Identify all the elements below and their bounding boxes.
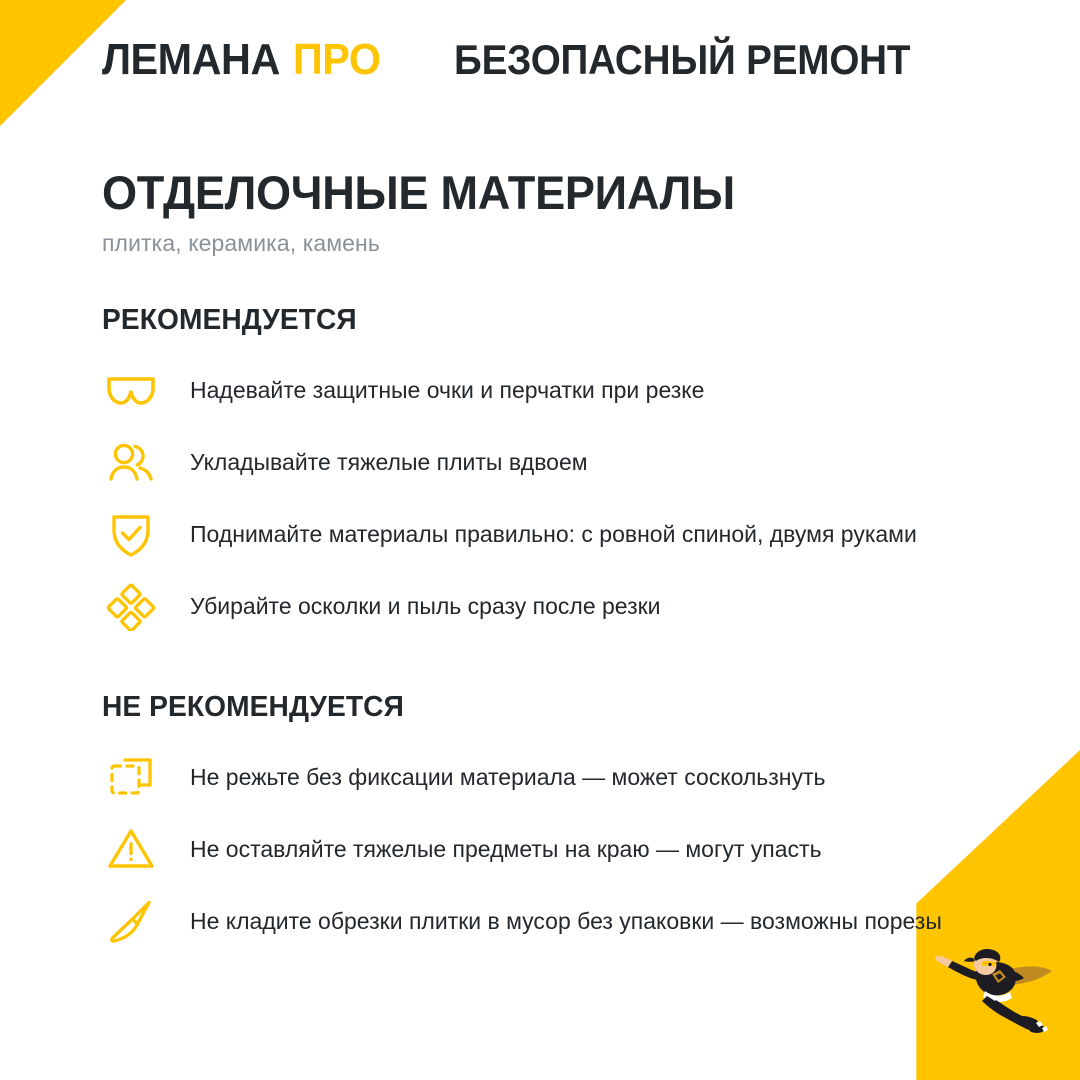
list-item-text: Не оставляйте тяжелые предметы на краю —… — [190, 826, 822, 866]
list-item: Надевайте защитные очки и перчатки при р… — [102, 367, 992, 413]
content-body: ОТДЕЛОЧНЫЕ МАТЕРИАЛЫ плитка, керамика, к… — [102, 168, 992, 944]
list-item-text: Не режьте без фиксации материала — может… — [190, 754, 826, 794]
section-heading-recommended: РЕКОМЕНДУЕТСЯ — [102, 304, 965, 337]
list-item-text: Не кладите обрезки плитки в мусор без уп… — [190, 898, 942, 938]
campaign-title: БЕЗОПАСНЫЙ РЕМОНТ — [454, 39, 910, 81]
brand-logo: ЛЕМАНА ПРО — [102, 38, 381, 82]
four-diamonds-tile-icon — [102, 583, 160, 629]
list-item-text: Укладывайте тяжелые плиты вдвоем — [190, 439, 588, 479]
warning-triangle-icon — [102, 826, 160, 872]
list-item: Не режьте без фиксации материала — может… — [102, 754, 992, 800]
list-item: Поднимайте материалы правильно: с ровной… — [102, 511, 992, 557]
section-not-recommended: НЕ РЕКОМЕНДУЕТСЯ Не режьте без фиксации … — [102, 691, 992, 944]
poster-root: ЛЕМАНА ПРО БЕЗОПАСНЫЙ РЕМОНТ ОТДЕЛОЧНЫЕ … — [0, 0, 1080, 1080]
safety-goggles-icon — [102, 367, 160, 413]
section-recommended: РЕКОМЕНДУЕТСЯ Надевайте защитные очки и … — [102, 304, 992, 629]
section-heading-not-recommended: НЕ РЕКОМЕНДУЕТСЯ — [102, 691, 965, 724]
flying-superhero-mascot — [930, 930, 1060, 1040]
list-item-text: Поднимайте материалы правильно: с ровной… — [190, 511, 917, 551]
list-item: Убирайте осколки и пыль сразу после резк… — [102, 583, 992, 629]
unfixed-square-icon — [102, 754, 160, 800]
page-subtitle: плитка, керамика, камень — [102, 230, 992, 257]
knife-blade-icon — [102, 898, 160, 944]
list-item: Не кладите обрезки плитки в мусор без уп… — [102, 898, 992, 944]
list-item-text: Убирайте осколки и пыль сразу после резк… — [190, 583, 661, 623]
list-item: Не оставляйте тяжелые предметы на краю —… — [102, 826, 992, 872]
two-people-icon — [102, 439, 160, 485]
list-item: Укладывайте тяжелые плиты вдвоем — [102, 439, 992, 485]
shield-check-icon — [102, 511, 160, 557]
brand-logo-primary: ЛЕМАНА — [102, 38, 280, 82]
header: ЛЕМАНА ПРО БЕЗОПАСНЫЙ РЕМОНТ — [102, 38, 950, 82]
list-item-text: Надевайте защитные очки и перчатки при р… — [190, 367, 704, 407]
page-title: ОТДЕЛОЧНЫЕ МАТЕРИАЛЫ — [102, 168, 956, 217]
brand-logo-accent: ПРО — [293, 38, 381, 82]
